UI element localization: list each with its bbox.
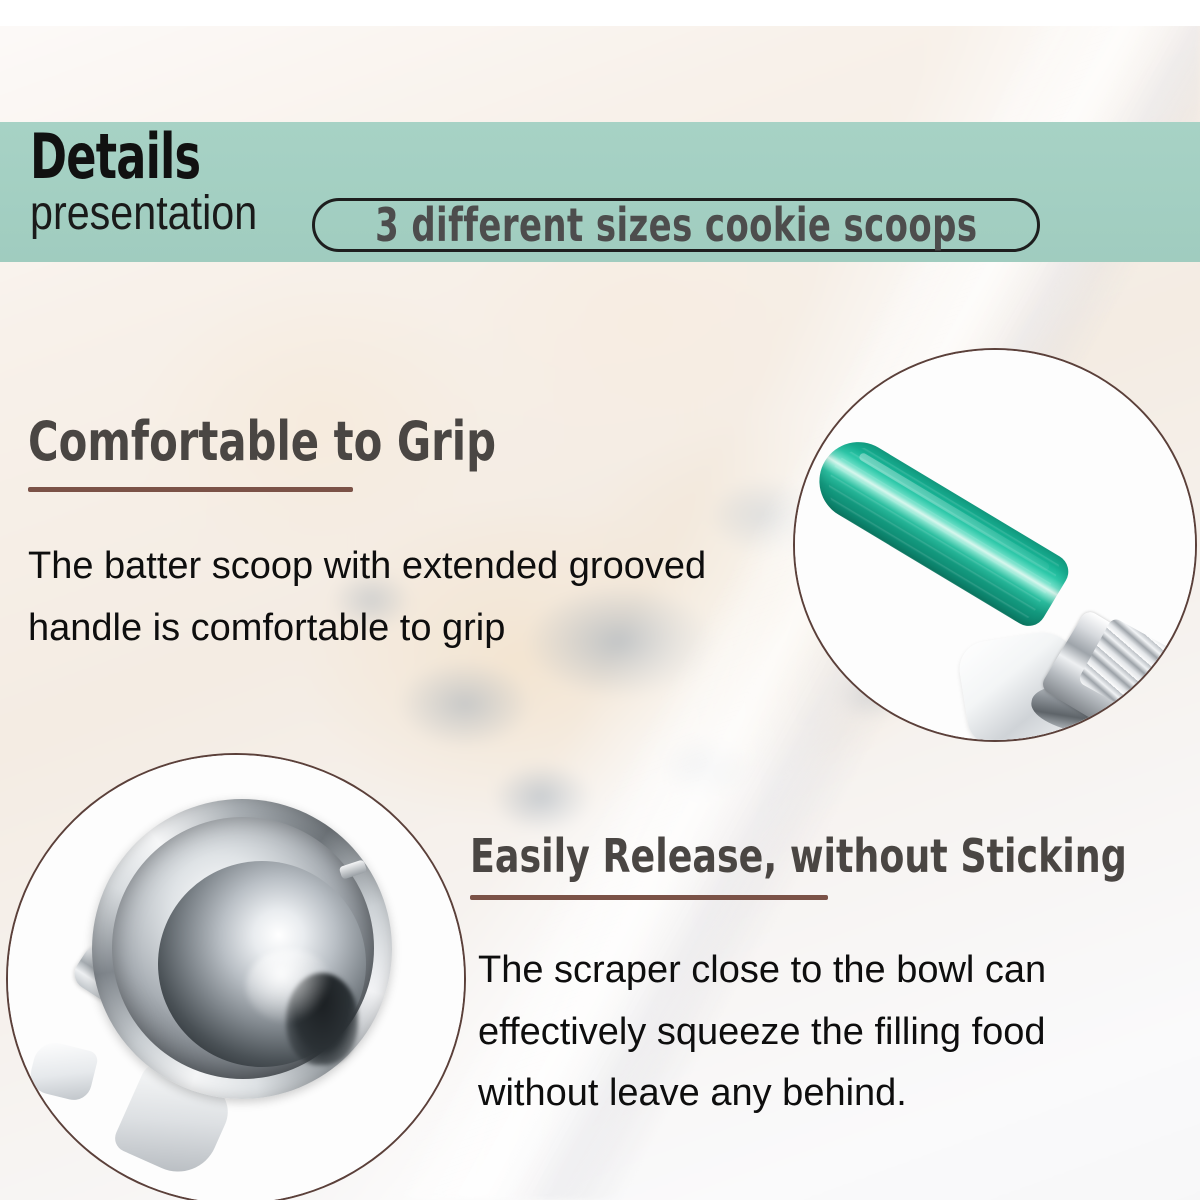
bowl-cup-shape (158, 861, 366, 1067)
bowl-outer-ring-shape (92, 799, 392, 1099)
feature-heading-easily-release: Easily Release, without Sticking (470, 833, 1127, 879)
top-white-strip (0, 0, 1200, 26)
product-variant-badge: 3 different sizes cookie scoops (312, 198, 1040, 252)
photo-inset-bowl-bg (8, 755, 464, 1200)
feature-heading-comfortable-grip: Comfortable to Grip (28, 415, 496, 469)
photo-inset-handle (793, 348, 1197, 742)
badge-label: 3 different sizes cookie scoops (375, 202, 977, 248)
green-grooved-handle-shape (805, 428, 1075, 633)
photo-inset-handle-bg (795, 350, 1195, 740)
bowl-highlight-shape (246, 949, 334, 1023)
page-title: Details (30, 126, 200, 188)
bowl-rim-shape (112, 817, 374, 1079)
bowl-thumb-tab-shape (27, 1038, 100, 1103)
feature-body-easily-release: The scraper close to the bowl can effect… (478, 940, 1158, 1125)
photo-inset-bowl (6, 753, 466, 1200)
feature-rule-2 (470, 895, 828, 900)
feature-rule-1 (28, 487, 353, 492)
page-subtitle: presentation (30, 188, 257, 240)
product-detail-infographic: Details presentation 3 different sizes c… (0, 0, 1200, 1200)
feature-body-comfortable-grip: The batter scoop with extended grooved h… (28, 536, 788, 659)
